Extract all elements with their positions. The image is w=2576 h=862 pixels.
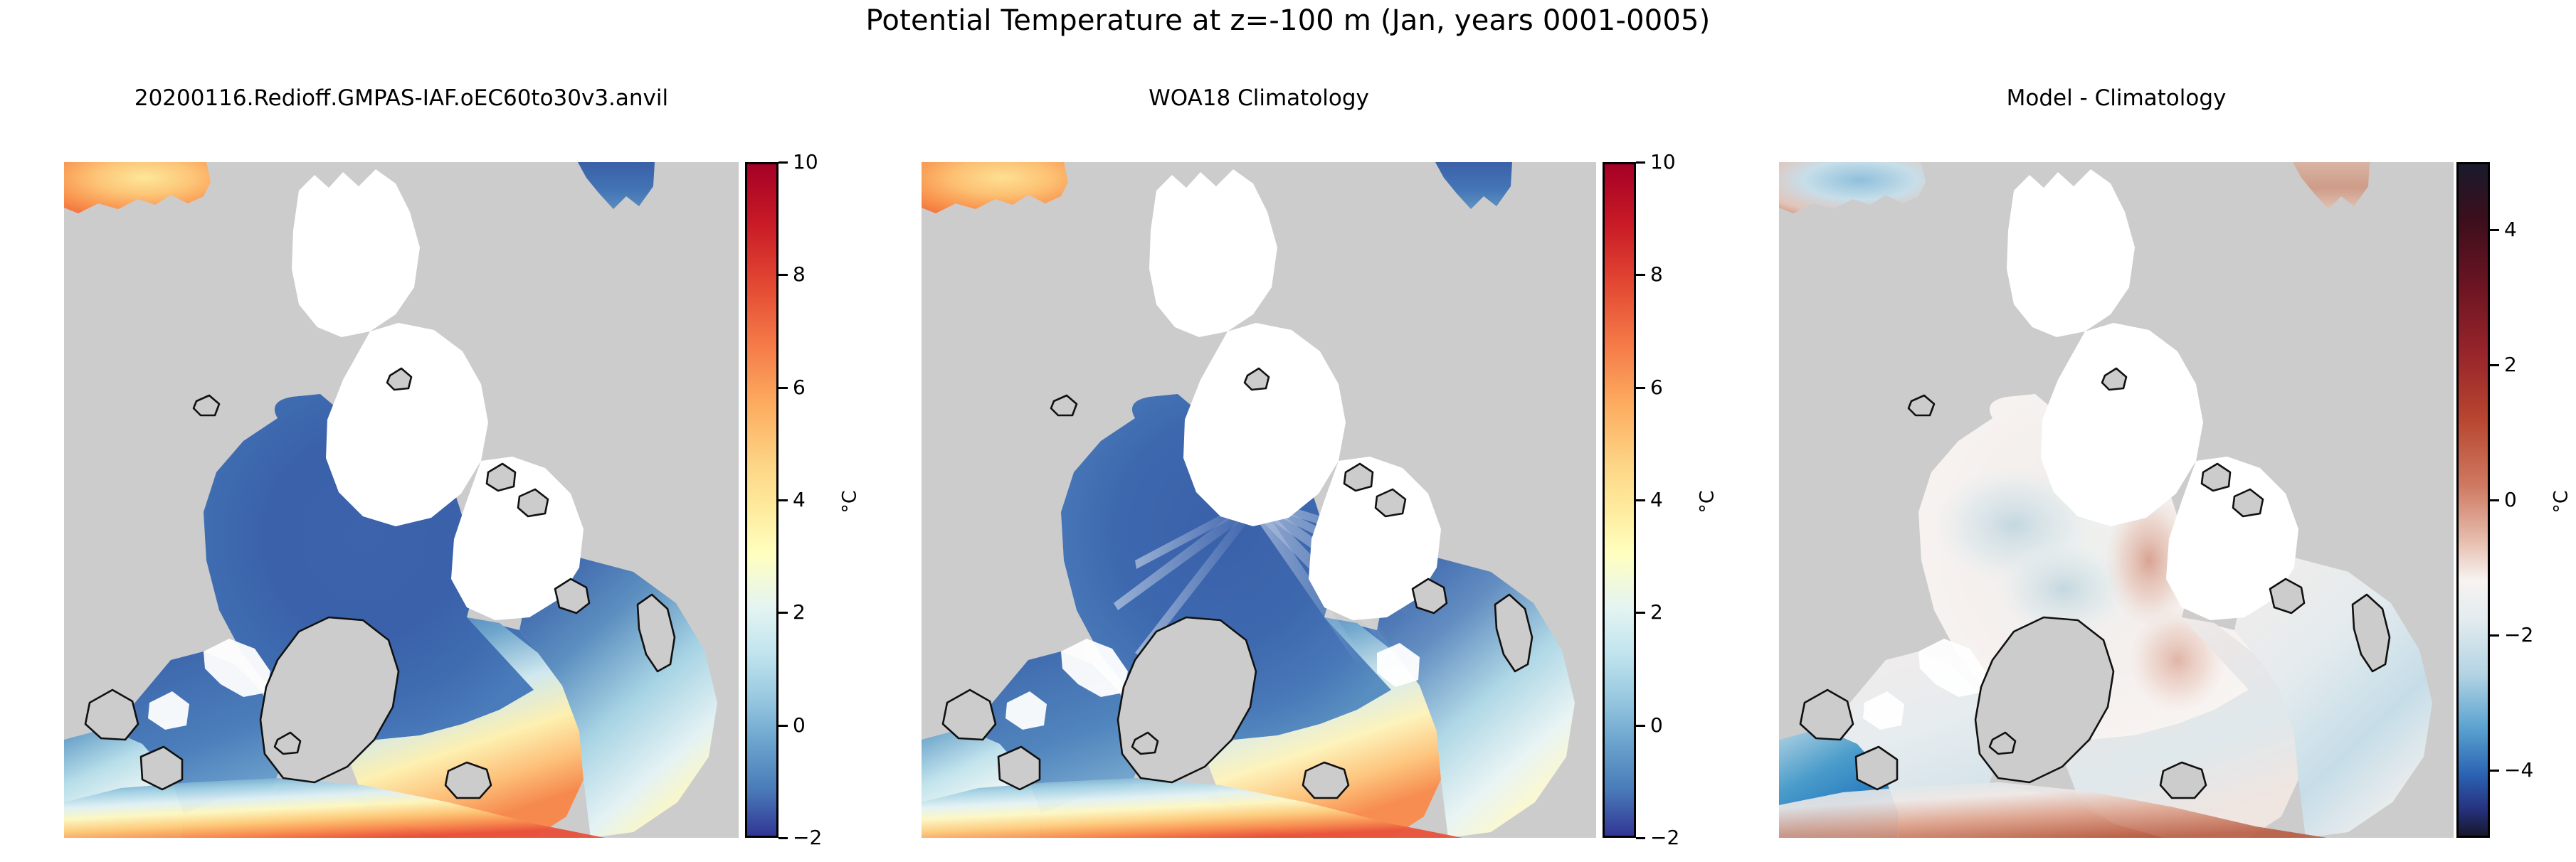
panel-title-model: 20200116.Redioff.GMPAS-IAF.oEC60to30v3.a… [64,85,739,111]
colorbar-label-difference: °C [2550,490,2572,513]
map-climatology[interactable] [922,162,1596,838]
map-model[interactable] [64,162,739,838]
colorbar-difference[interactable] [2456,162,2490,838]
map-difference[interactable] [1779,162,2454,838]
colorbar-label-model: °C [839,490,861,513]
colorbar-label-climatology: °C [1696,490,1719,513]
map-svg-model [64,162,739,838]
colorbar-model[interactable] [745,162,778,838]
colorbar-climatology[interactable] [1603,162,1636,838]
figure-suptitle: Potential Temperature at z=-100 m (Jan, … [0,4,2576,37]
figure-canvas: Potential Temperature at z=-100 m (Jan, … [0,0,2576,862]
panel-title-climatology: WOA18 Climatology [922,85,1596,111]
map-svg-climatology [922,162,1596,838]
panel-title-difference: Model - Climatology [1779,85,2454,111]
map-svg-difference [1779,162,2454,838]
